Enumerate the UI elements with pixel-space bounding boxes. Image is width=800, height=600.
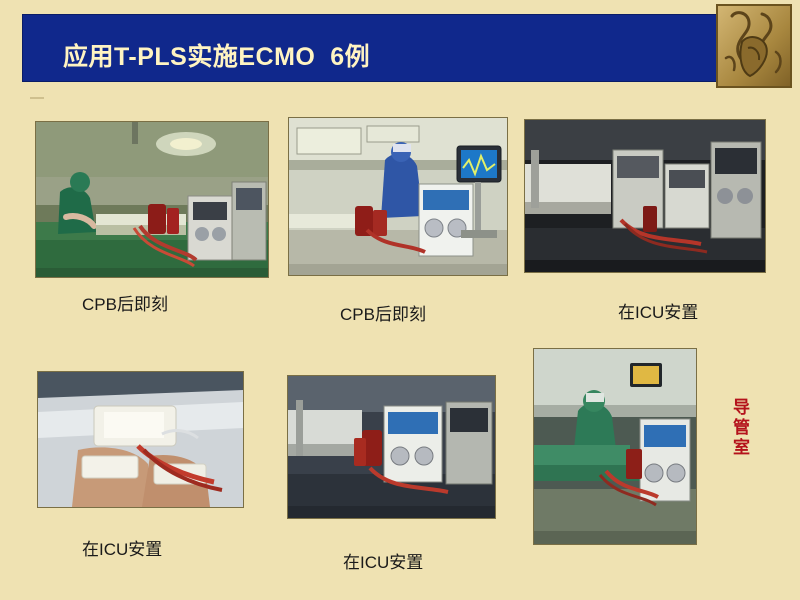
photo-cath-lab (533, 348, 697, 545)
heart-anatomy-emblem-icon (716, 4, 792, 88)
photo-cpb-immediately-after-2 (288, 117, 508, 276)
caption-cath-lab-vertical: 导管室 (726, 398, 748, 458)
caption-icu-setup-2: 在ICU安置 (343, 548, 423, 573)
caption-cpb-immediately-after-1: CPB后即刻 (82, 290, 168, 315)
caption-cpb-immediately-after-2: CPB后即刻 (340, 300, 426, 325)
photo-cpb-immediately-after-1 (35, 121, 269, 278)
slide-canvas: 应用T-PLS实施ECMO 6例 (0, 0, 800, 600)
divider-tick (30, 97, 44, 99)
caption-icu-setup-1: 在ICU安置 (618, 298, 698, 323)
photo-patient-in-icu (37, 371, 244, 508)
photo-icu-setup-2 (287, 375, 496, 519)
caption-patient-in-icu: 在ICU安置 (82, 535, 162, 560)
page-title: 应用T-PLS实施ECMO 6例 (63, 37, 370, 73)
title-bar: 应用T-PLS实施ECMO 6例 (22, 14, 780, 82)
photo-icu-setup-1 (524, 119, 766, 273)
